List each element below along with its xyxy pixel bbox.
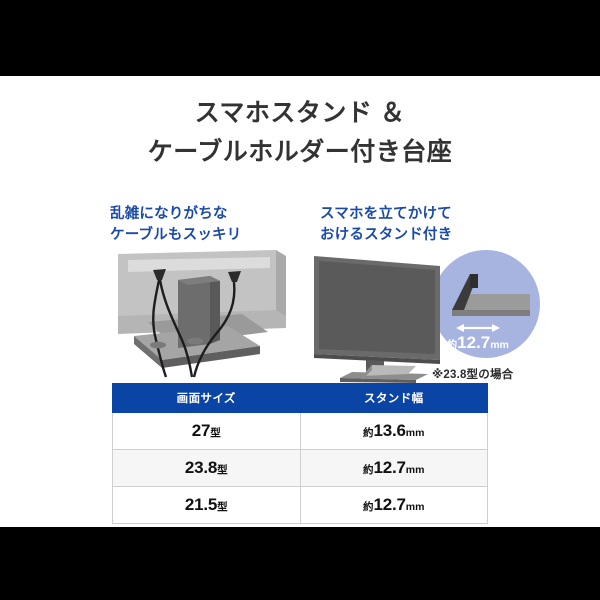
screenshot-frame: スマホスタンド ＆ ケーブルホルダー付き台座 乱雑になりがちな ケーブルもスッキ… [0,0,600,600]
screen-size-value: 21.5 [185,495,217,515]
cable-holder-slot-left [150,342,166,349]
table-header-screen-size: 画面サイズ [113,384,301,413]
content-stage: スマホスタンド ＆ ケーブルホルダー付き台座 乱雑になりがちな ケーブルもスッキ… [0,76,600,527]
letterbox-top-bar [0,0,600,76]
caption-left-line-2: ケーブルもスッキリ [110,225,241,246]
stand-neck [178,276,210,348]
caption-left-line-1: 乱雑になりがちな [110,204,241,225]
title-line-1: スマホスタンド ＆ [0,94,600,133]
cell-screen-size: 23.8型 [113,450,301,487]
monitor-smartphone-stand-illustration: 約12.7mm [300,244,550,384]
table-row: 27型 約13.6mm [113,413,488,450]
cell-stand-width: 約12.7mm [300,450,488,487]
page-title: スマホスタンド ＆ ケーブルホルダー付き台座 [0,94,600,172]
callout-unit: mm [490,339,509,351]
cell-screen-size: 21.5型 [113,487,301,524]
table-header-stand-width: スタンド幅 [300,384,488,413]
screen-size-unit: 型 [210,425,221,440]
spec-table: 画面サイズ スタンド幅 27型 約13.6mm [112,383,488,524]
caption-right: スマホを立てかけて おけるスタンド付き [320,204,452,246]
screen-size-unit: 型 [217,462,228,477]
table-row: 23.8型 約12.7mm [113,450,488,487]
table-row: 21.5型 約12.7mm [113,487,488,524]
cell-stand-width: 約13.6mm [300,413,488,450]
callout-base-edge [452,310,530,316]
stand-width-prefix: 約 [363,462,374,477]
cell-screen-size: 27型 [113,413,301,450]
screen-size-value: 23.8 [185,458,217,478]
cable-holder-slot-right [187,338,203,345]
stand-width-prefix: 約 [363,425,374,440]
stand-width-unit: mm [406,501,425,513]
callout-prefix: 約 [447,338,457,351]
stand-width-value: 13.6 [374,421,406,441]
caption-right-line-2: おけるスタンド付き [320,225,452,246]
callout-value: 12.7 [457,333,490,352]
caption-right-line-1: スマホを立てかけて [320,204,452,225]
callout-stand-groove [470,274,478,288]
cell-stand-width: 約12.7mm [300,487,488,524]
monitor-base-cable-holder-illustration [100,248,305,378]
note-text: ※23.8型の場合 [432,366,513,382]
table-header-row: 画面サイズ スタンド幅 [113,384,488,413]
stand-width-unit: mm [406,427,425,439]
stand-width-prefix: 約 [363,499,374,514]
screen-size-value: 27 [192,421,211,441]
stand-width-unit: mm [406,464,425,476]
title-line-2: ケーブルホルダー付き台座 [0,133,600,172]
stand-width-value: 12.7 [374,458,406,478]
monitor-screen-face [319,261,435,354]
stand-width-value: 12.7 [374,495,406,515]
screen-size-unit: 型 [217,499,228,514]
caption-left: 乱雑になりがちな ケーブルもスッキリ [110,204,241,246]
letterbox-bottom-bar [0,527,600,600]
